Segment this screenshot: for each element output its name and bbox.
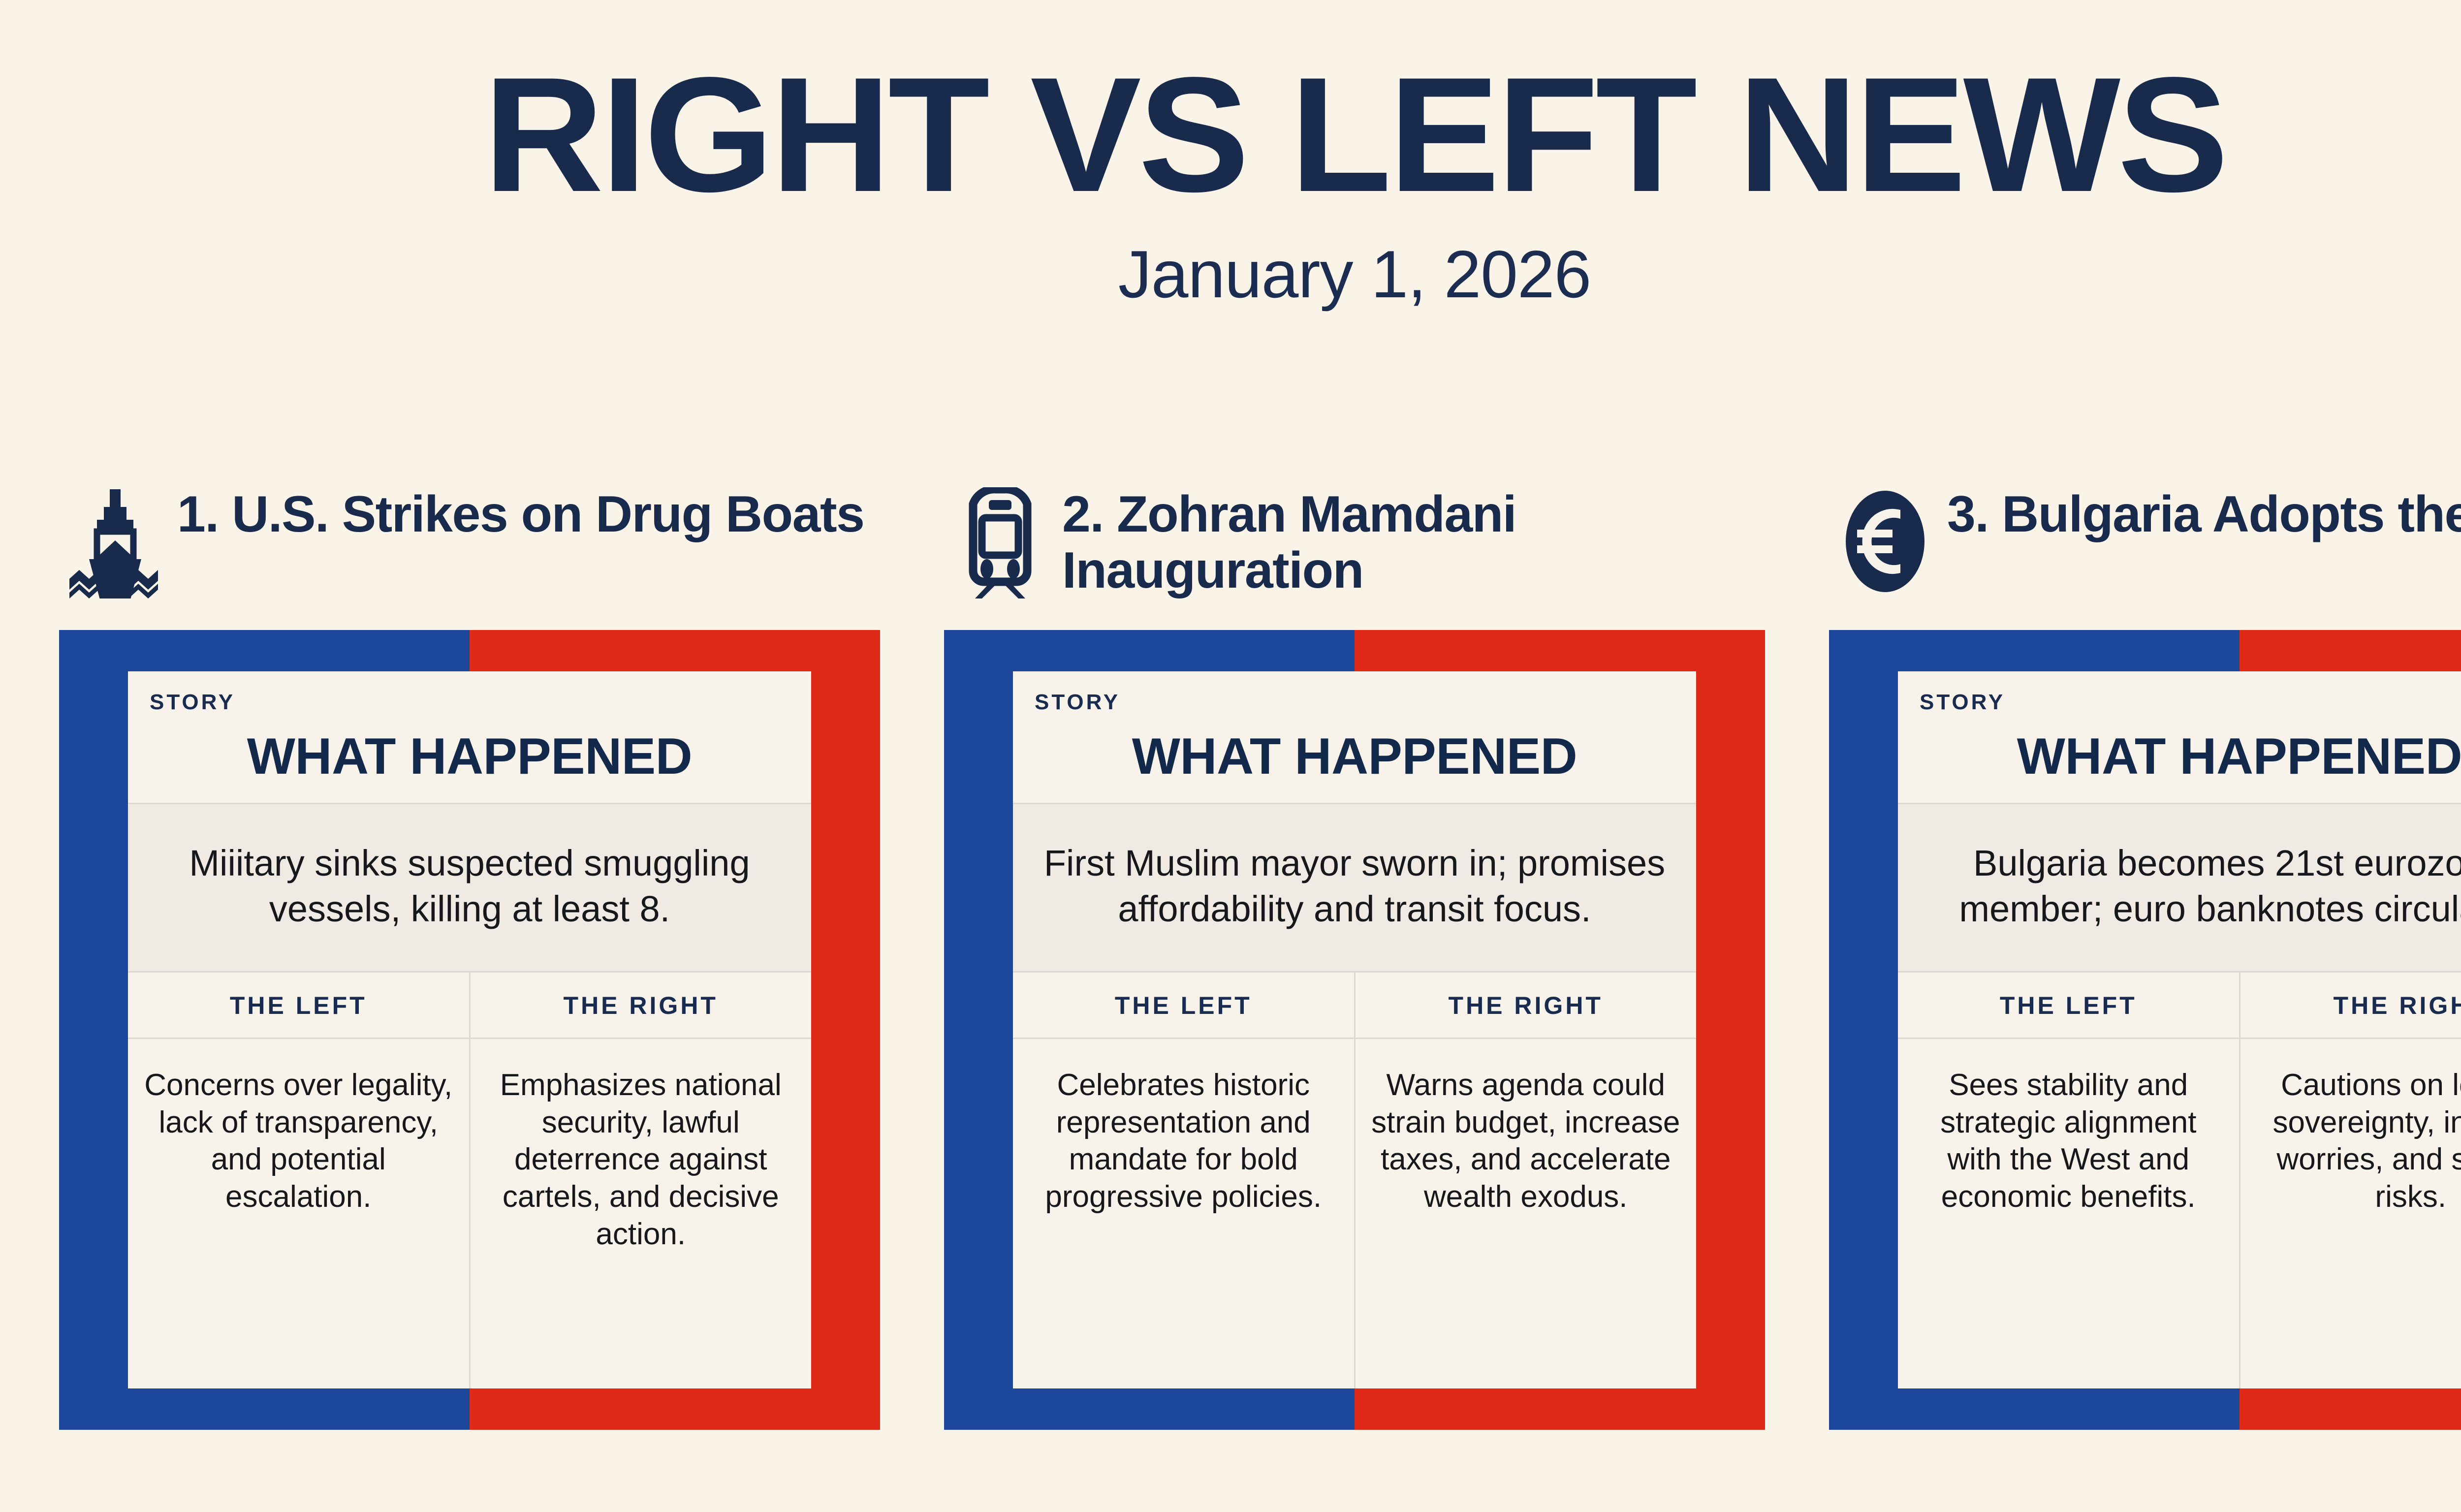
story-kicker: STORY (150, 690, 789, 715)
story-card-2-panel: STORY WHAT HAPPENED First Muslim mayor s… (1013, 671, 1696, 1388)
what-happened-heading: WHAT HAPPENED (1920, 727, 2461, 786)
what-happened-heading: WHAT HAPPENED (150, 727, 789, 786)
story-card-1-frame: STORY WHAT HAPPENED Miiitary sinks suspe… (59, 630, 880, 1430)
the-left-label: THE LEFT (1013, 973, 1356, 1038)
story-card-2-title: 2. Zohran Mamdani Inauguration (1062, 482, 1765, 599)
the-right-label: THE RIGHT (1356, 973, 1697, 1038)
story-kicker: STORY (1035, 690, 1674, 715)
poster-header: RIGHT VS LEFT NEWS January 1, 2026 (0, 0, 2461, 308)
left-right-body-row: Celebrates historic representation and m… (1013, 1039, 1696, 1388)
left-right-body-row: Sees stability and strategic alignment w… (1898, 1039, 2461, 1388)
the-left-text: Sees stability and strategic alignment w… (1898, 1039, 2240, 1388)
story-card-3-panel: STORY WHAT HAPPENED Bulgaria becomes 21s… (1898, 671, 2461, 1388)
story-card-2-frame: STORY WHAT HAPPENED First Muslim mayor s… (944, 630, 1765, 1430)
story-card-2: 2. Zohran Mamdani Inauguration STORY WHA… (944, 482, 1765, 1430)
ship-icon (66, 482, 164, 596)
train-icon (951, 482, 1049, 596)
the-right-text: Emphasizes national security, lawful det… (471, 1039, 812, 1388)
left-right-header-row: THE LEFT THE RIGHT (1013, 973, 1696, 1039)
the-left-text: Concerns over legality, lack of transpar… (128, 1039, 471, 1388)
story-block: STORY WHAT HAPPENED (1013, 671, 1696, 803)
left-right-header-row: THE LEFT THE RIGHT (128, 973, 811, 1039)
story-card-1-header: 1. U.S. Strikes on Drug Boats (59, 482, 880, 630)
left-right-header-row: THE LEFT THE RIGHT (1898, 973, 2461, 1039)
the-right-label: THE RIGHT (2240, 973, 2461, 1038)
infographic-poster: RIGHT VS LEFT NEWS January 1, 2026 (0, 0, 2461, 1512)
story-summary-text: Bulgaria becomes 21st eurozone member; e… (1898, 803, 2461, 973)
the-left-text: Celebrates historic representation and m… (1013, 1039, 1356, 1388)
story-kicker: STORY (1920, 690, 2461, 715)
story-block: STORY WHAT HAPPENED (128, 671, 811, 803)
left-right-body-row: Concerns over legality, lack of transpar… (128, 1039, 811, 1388)
story-block: STORY WHAT HAPPENED (1898, 671, 2461, 803)
story-card-1: 1. U.S. Strikes on Drug Boats STORY WHAT… (59, 482, 880, 1430)
page-title: RIGHT VS LEFT NEWS (0, 57, 2461, 212)
the-left-label: THE LEFT (1898, 973, 2240, 1038)
what-happened-heading: WHAT HAPPENED (1035, 727, 1674, 786)
story-card-2-header: 2. Zohran Mamdani Inauguration (944, 482, 1765, 630)
story-summary-text: Miiitary sinks suspected smuggling vesse… (128, 803, 811, 973)
story-card-3-header: 3. Bulgaria Adopts the Euro (1829, 482, 2461, 630)
story-card-1-panel: STORY WHAT HAPPENED Miiitary sinks suspe… (128, 671, 811, 1388)
story-cards-row: 1. U.S. Strikes on Drug Boats STORY WHAT… (59, 482, 2461, 1430)
the-right-text: Cautions on loss of sovereignty, inflati… (2240, 1039, 2461, 1388)
story-card-3: 3. Bulgaria Adopts the Euro STORY WHAT H… (1829, 482, 2461, 1430)
story-card-3-frame: STORY WHAT HAPPENED Bulgaria becomes 21s… (1829, 630, 2461, 1430)
story-card-1-title: 1. U.S. Strikes on Drug Boats (177, 482, 864, 542)
story-summary-text: First Muslim mayor sworn in; promises af… (1013, 803, 1696, 973)
story-card-3-title: 3. Bulgaria Adopts the Euro (1947, 482, 2461, 542)
the-right-label: THE RIGHT (471, 973, 812, 1038)
page-subtitle-date: January 1, 2026 (0, 241, 2461, 308)
the-left-label: THE LEFT (128, 973, 471, 1038)
the-right-text: Warns agenda could strain budget, increa… (1356, 1039, 1697, 1388)
euro-icon (1836, 482, 1934, 596)
